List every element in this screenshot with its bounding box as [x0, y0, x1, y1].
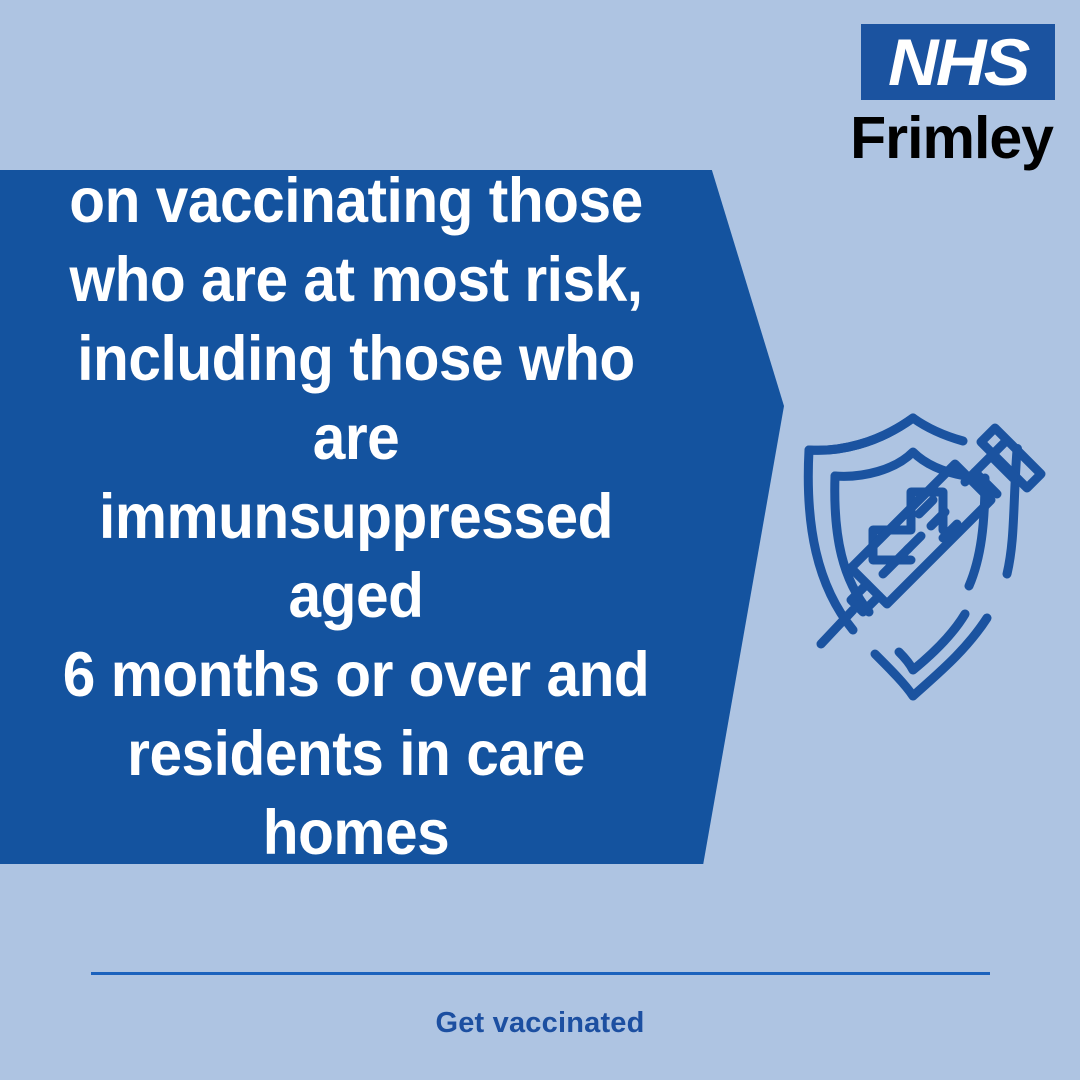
get-vaccinated-cta[interactable]: Get vaccinated — [0, 1007, 1080, 1040]
nhs-wordmark: NHS — [888, 24, 1028, 100]
message-banner-text-area: This is due to focusing on vaccinating t… — [0, 170, 712, 864]
nhs-logo-badge: NHS — [861, 24, 1055, 100]
footer-divider — [91, 972, 990, 975]
message-banner: This is due to focusing on vaccinating t… — [0, 170, 784, 864]
shield-syringe-icon — [795, 408, 1065, 708]
headline-text: This is due to focusing on vaccinating t… — [25, 83, 687, 952]
nhs-logo-block: NHS Frimley — [755, 24, 1055, 170]
shield-outer-top-left — [809, 418, 913, 450]
poster-canvas: NHS Frimley This is due to focusing on v… — [0, 0, 1080, 1080]
trust-name-label: Frimley — [755, 106, 1055, 170]
footer: Get vaccinated — [0, 955, 1080, 1080]
shield-syringe-graphic — [795, 408, 1065, 708]
